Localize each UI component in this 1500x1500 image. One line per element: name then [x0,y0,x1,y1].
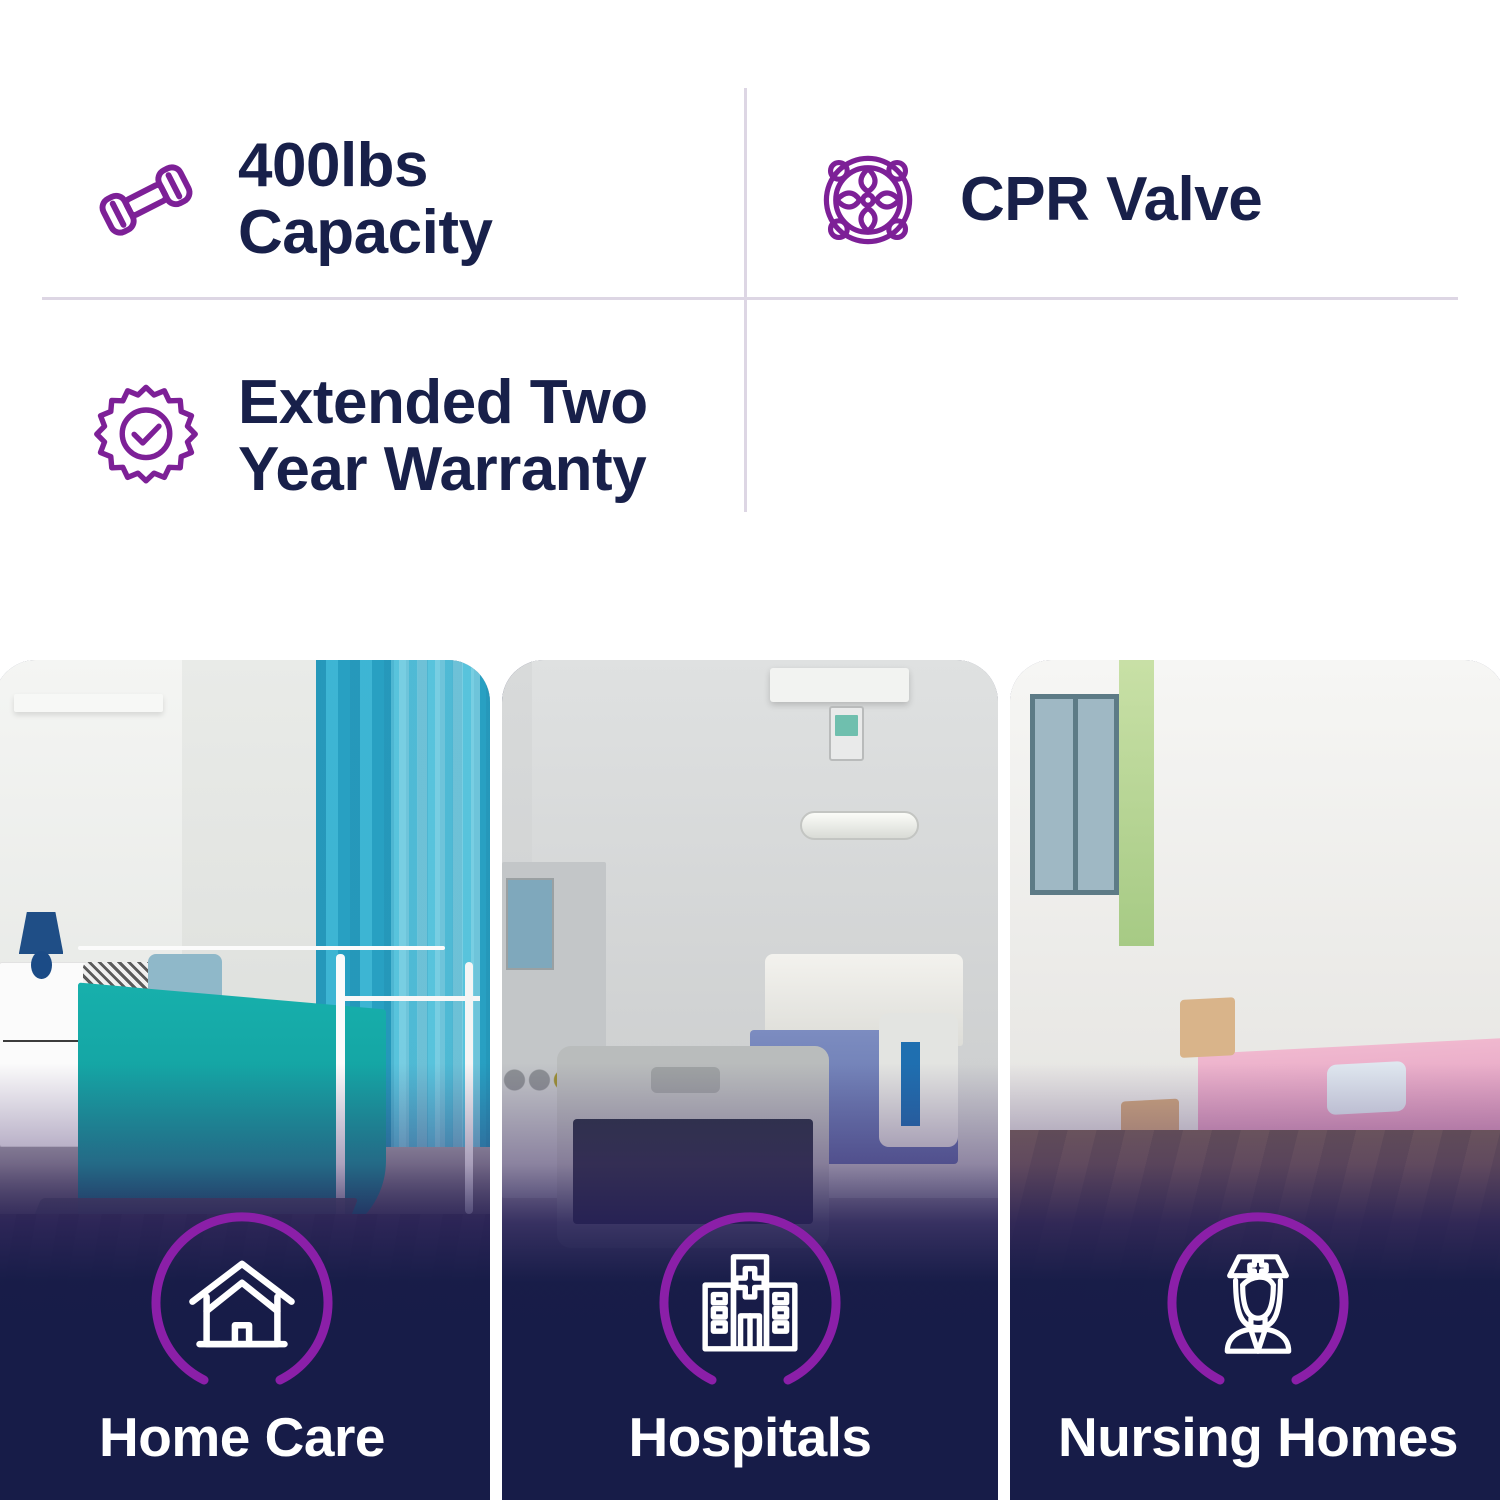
cpr-valve-icon [810,142,926,258]
feature-warranty-label: Extended Two Year Warranty [238,370,648,504]
use-case-card-nursing-homes[interactable]: Nursing Homes [1010,660,1500,1500]
nursing-homes-footer: Nursing Homes [1010,1200,1500,1500]
feature-capacity: 400lbs Capacity [88,110,728,290]
hospitals-label: Hospitals [628,1410,871,1465]
home-care-label: Home Care [99,1410,385,1465]
home-care-badge [142,1204,342,1404]
nursing-homes-label: Nursing Homes [1058,1410,1458,1465]
feature-warranty: Extended Two Year Warranty [88,352,748,522]
feature-cpr-valve-label: CPR Valve [960,167,1262,234]
warranty-badge-icon [88,379,204,495]
feature-capacity-label: 400lbs Capacity [238,133,492,267]
hospitals-badge [650,1204,850,1404]
feature-cpr-valve: CPR Valve [810,120,1450,280]
nurse-icon [1199,1245,1317,1363]
use-case-card-hospitals[interactable]: Hospitals [502,660,998,1500]
home-care-footer: Home Care [0,1200,490,1500]
product-feature-infographic: 400lbs Capacity CPR Valve [0,0,1500,1500]
house-icon [183,1245,301,1363]
dumbbell-icon [88,142,204,258]
nursing-homes-badge [1158,1204,1358,1404]
hospital-building-icon [691,1245,809,1363]
horizontal-divider [42,297,1458,300]
feature-highlights-section: 400lbs Capacity CPR Valve [0,0,1500,600]
hospitals-footer: Hospitals [502,1200,998,1500]
use-case-cards-section: Home Care [0,660,1500,1500]
use-case-card-home-care[interactable]: Home Care [0,660,490,1500]
